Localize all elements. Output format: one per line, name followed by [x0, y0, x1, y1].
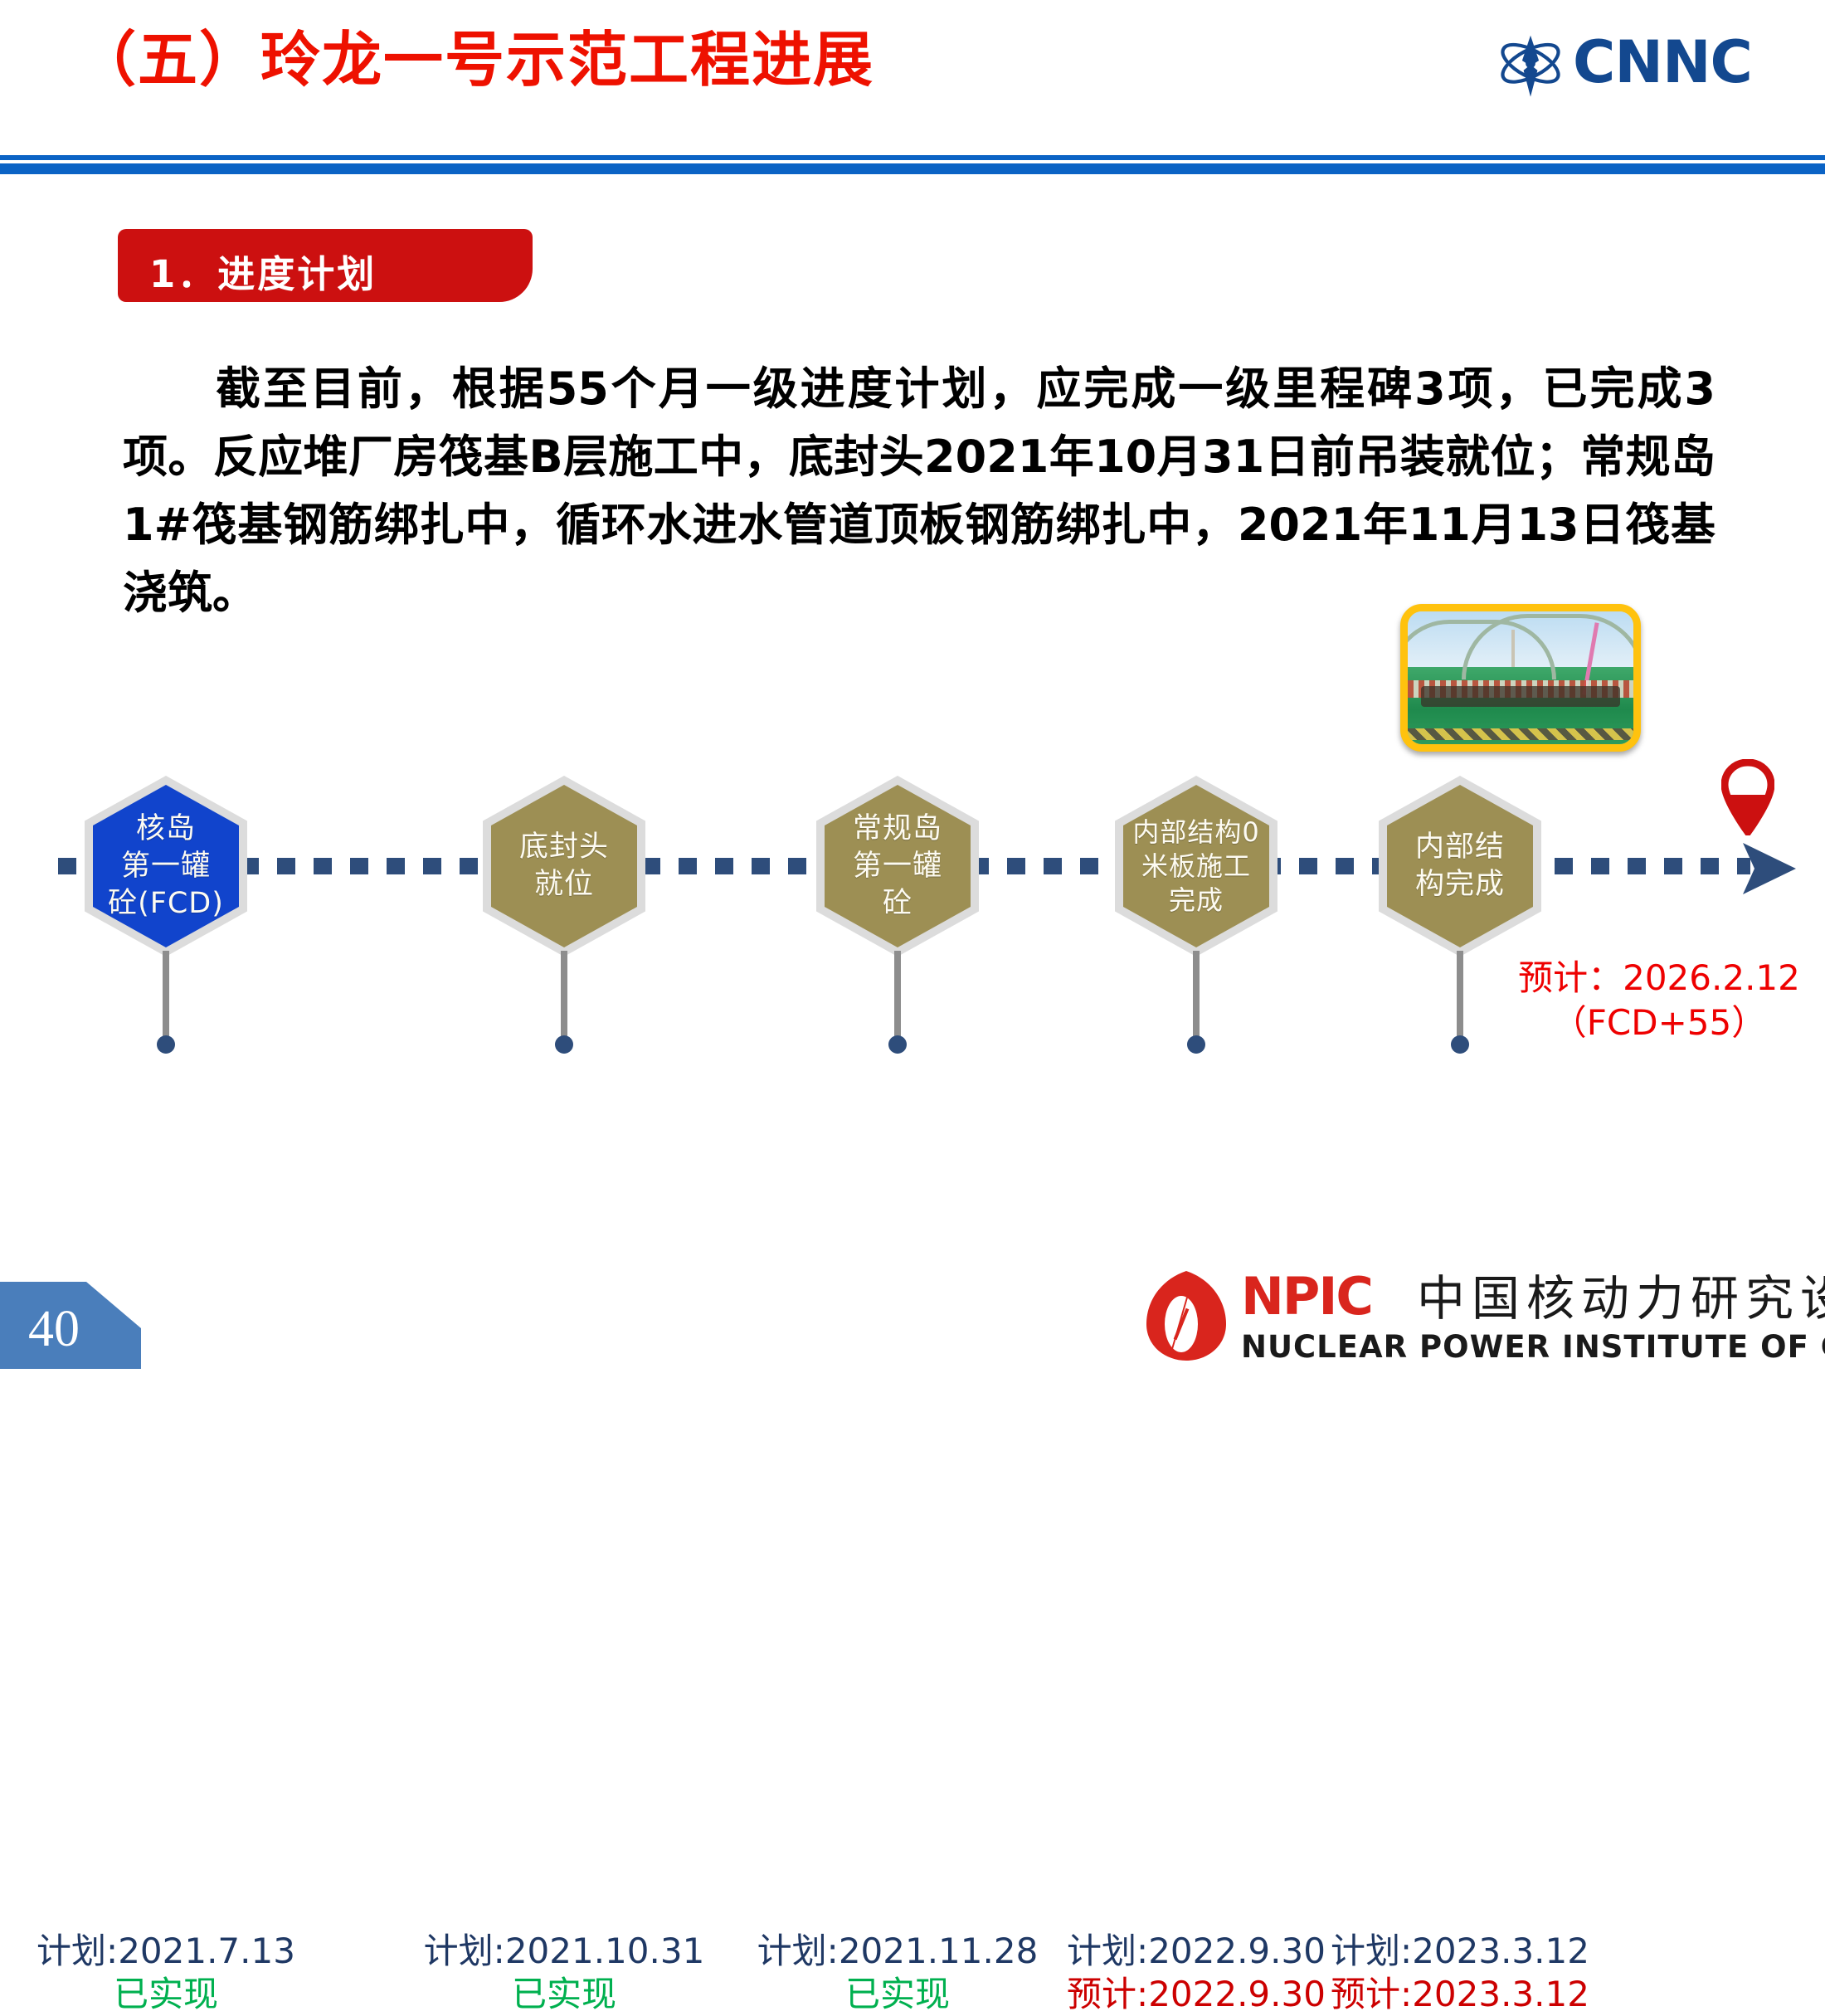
milestone-planned-date: 计划:2021.10.31 — [382, 1930, 747, 1973]
milestone-dates: 计划:2023.3.12预计:2023.3.12 — [1277, 1930, 1642, 2016]
npic-chinese-name: 中国核动力研究设计院 — [1417, 1273, 1825, 1324]
milestone-stem-dot — [1187, 1035, 1205, 1054]
section-badge-label: 1．进度计划 — [149, 244, 377, 298]
milestone-dates: 计划:2021.10.31已实现 — [382, 1930, 747, 2016]
milestone-label: 核岛 第一罐 砼(FCD) — [108, 811, 224, 923]
construction-site-photo — [1400, 604, 1641, 752]
body-paragraph: 截至目前，根据55个月一级进度计划，应完成一级里程碑3项，已完成3项。反应堆厂房… — [123, 355, 1715, 627]
milestone-stem-dot — [888, 1035, 907, 1054]
header-rule-thick — [0, 163, 1825, 174]
milestone-label: 底封头 就位 — [519, 829, 609, 903]
forecast-note-line2: （FCD+55） — [1485, 1001, 1825, 1045]
milestone-stem — [1193, 951, 1200, 1042]
milestone-stem — [163, 951, 169, 1042]
milestone-stem-dot — [1451, 1035, 1469, 1054]
milestone-label: 常规岛 第一罐 砼 — [853, 811, 942, 923]
cnnc-logo: CNNC — [1493, 27, 1792, 103]
npic-english-name: NUCLEAR POWER INSTITUTE OF CHINA — [1241, 1331, 1825, 1364]
page-number-badge: 40 — [0, 1282, 141, 1369]
header-rule-thin — [0, 155, 1825, 160]
milestone-stem — [1457, 951, 1463, 1042]
milestone-label: 内部结构0 米板施工 完成 — [1132, 816, 1259, 918]
milestone-status: 已实现 — [0, 1973, 348, 2016]
slide: （五）玲龙一号示范工程进展 CNNC 1．进度计划 截至目前，根据55个月一级进… — [0, 0, 1825, 1369]
milestone-status: 已实现 — [382, 1973, 747, 2016]
forecast-note: 预计：2026.2.12 （FCD+55） — [1485, 956, 1825, 1045]
milestone-stem — [561, 951, 567, 1042]
npic-abbr: NPIC — [1241, 1271, 1372, 1322]
milestone-stem — [894, 951, 901, 1042]
page-number: 40 — [28, 1300, 80, 1359]
forecast-note-line1: 预计：2026.2.12 — [1485, 956, 1825, 1001]
timeline-arrow-icon — [1738, 836, 1801, 901]
milestone-planned-date: 计划:2023.3.12 — [1277, 1930, 1642, 1973]
milestone-stem-dot — [555, 1035, 573, 1054]
milestone-label: 内部结 构完成 — [1415, 829, 1505, 903]
npic-logo: NPIC 中国核动力研究设计院 NUCLEAR POWER INSTITUTE … — [1143, 1264, 1815, 1367]
section-badge: 1．进度计划 — [118, 229, 533, 302]
location-pin-icon — [1721, 759, 1774, 835]
npic-flame-icon — [1143, 1269, 1229, 1362]
cnnc-atom-icon — [1493, 30, 1568, 100]
milestone-planned-date: 计划:2021.7.13 — [0, 1930, 348, 1973]
page-title: （五）玲龙一号示范工程进展 — [76, 30, 874, 90]
milestone-stem-dot — [157, 1035, 175, 1054]
milestone-status: 预计:2023.3.12 — [1277, 1973, 1642, 2016]
milestone-dates: 计划:2021.7.13已实现 — [0, 1930, 348, 2016]
cnnc-logo-text: CNNC — [1573, 32, 1752, 93]
